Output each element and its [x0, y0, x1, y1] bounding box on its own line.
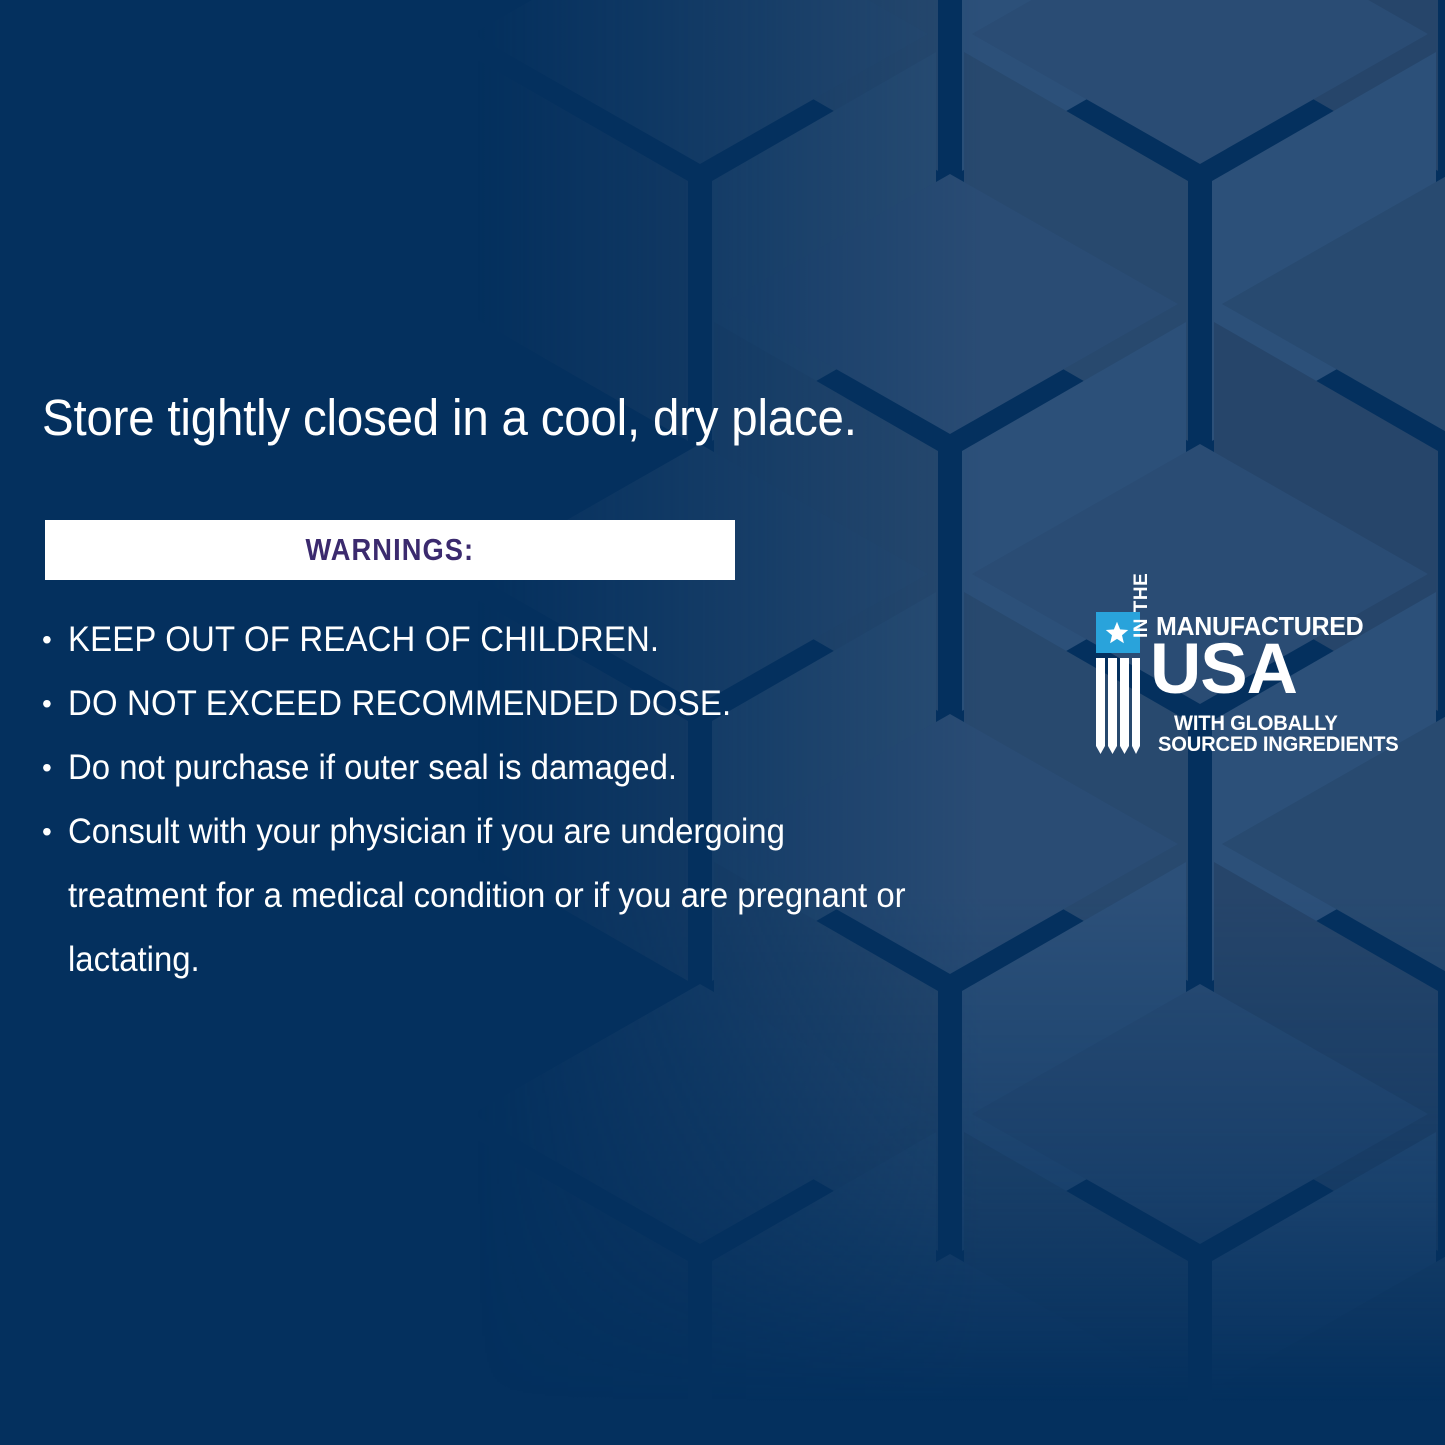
list-item: • DO NOT EXCEED RECOMMENDED DOSE. — [42, 672, 972, 736]
bullet-dot-icon: • — [42, 672, 68, 736]
manufactured-in-usa-badge: IN THE MANUFACTURED USA WITH GLOBALLY SO… — [1092, 612, 1350, 760]
bullet-dot-icon: • — [42, 800, 68, 864]
warnings-header-bar: WARNINGS: — [45, 520, 735, 580]
list-item: • KEEP OUT OF REACH OF CHILDREN. — [42, 608, 972, 672]
storage-instruction-headline: Store tightly closed in a cool, dry plac… — [42, 392, 857, 443]
star-icon — [1105, 621, 1129, 645]
list-item-text: Do not purchase if outer seal is damaged… — [68, 736, 918, 800]
list-item-text: DO NOT EXCEED RECOMMENDED DOSE. — [68, 672, 918, 736]
list-item: • Consult with your physician if you are… — [42, 800, 972, 992]
bullet-dot-icon: • — [42, 608, 68, 672]
badge-usa-label: USA — [1150, 634, 1297, 706]
badge-in-the-label: IN THE — [1131, 534, 1153, 638]
warnings-header-label: WARNINGS: — [306, 532, 475, 568]
list-item-text: KEEP OUT OF REACH OF CHILDREN. — [68, 608, 918, 672]
badge-sourced-ingredients-label: SOURCED INGREDIENTS — [1158, 733, 1399, 756]
bullet-dot-icon: • — [42, 736, 68, 800]
badge-with-globally-label: WITH GLOBALLY — [1174, 712, 1338, 735]
label-panel: Store tightly closed in a cool, dry plac… — [0, 0, 1445, 1445]
warnings-list: • KEEP OUT OF REACH OF CHILDREN. • DO NO… — [42, 608, 972, 992]
flag-stripes-icon — [1092, 658, 1140, 754]
list-item: • Do not purchase if outer seal is damag… — [42, 736, 972, 800]
list-item-text: Consult with your physician if you are u… — [68, 800, 918, 992]
